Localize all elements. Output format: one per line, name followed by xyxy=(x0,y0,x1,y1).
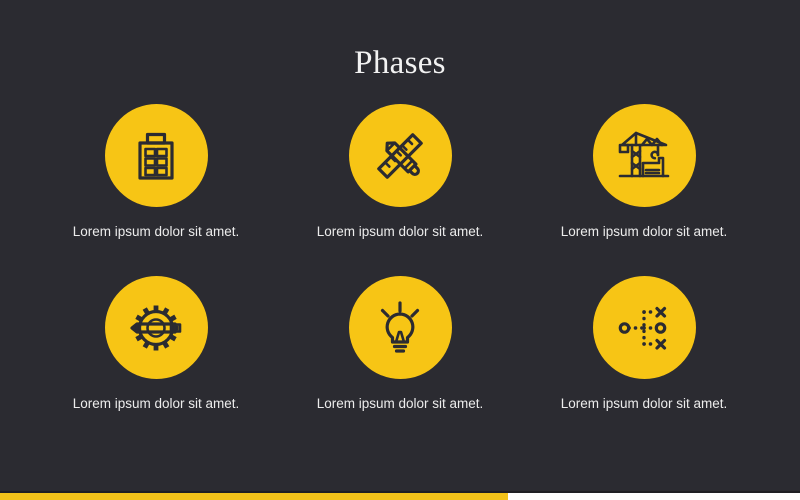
phase-caption-3: Lorem ipsum dolor sit amet. xyxy=(553,222,735,242)
phase-icon-circle-4[interactable] xyxy=(105,276,208,379)
phase-caption-4: Lorem ipsum dolor sit amet. xyxy=(65,394,247,414)
phase-grid: Lorem ipsum dolor sit amet. xyxy=(34,104,766,448)
strategy-playbook-icon xyxy=(614,298,674,358)
phase-caption-1: Lorem ipsum dolor sit amet. xyxy=(65,222,247,242)
phase-icon-circle-5[interactable] xyxy=(349,276,452,379)
phase-item-2[interactable]: Lorem ipsum dolor sit amet. xyxy=(278,104,522,276)
footer-accent-bar xyxy=(0,493,508,500)
page-title: Phases xyxy=(0,44,800,82)
construction-crane-icon xyxy=(614,126,674,186)
ruler-pencil-icon xyxy=(370,126,430,186)
phase-caption-5: Lorem ipsum dolor sit amet. xyxy=(309,394,491,414)
phase-item-6[interactable]: Lorem ipsum dolor sit amet. xyxy=(522,276,766,448)
phase-item-3[interactable]: Lorem ipsum dolor sit amet. xyxy=(522,104,766,276)
footer-right-strip xyxy=(508,493,800,500)
lightbulb-idea-icon xyxy=(370,298,430,358)
phase-item-4[interactable]: Lorem ipsum dolor sit amet. xyxy=(34,276,278,448)
phase-icon-circle-6[interactable] xyxy=(593,276,696,379)
phase-item-1[interactable]: Lorem ipsum dolor sit amet. xyxy=(34,104,278,276)
phase-caption-2: Lorem ipsum dolor sit amet. xyxy=(309,222,491,242)
slide-canvas: Phases Lorem ipsum dolor sit amet. xyxy=(0,0,800,500)
phase-item-5[interactable]: Lorem ipsum dolor sit amet. xyxy=(278,276,522,448)
gear-pencil-icon xyxy=(126,298,186,358)
phase-caption-6: Lorem ipsum dolor sit amet. xyxy=(553,394,735,414)
phase-icon-circle-3[interactable] xyxy=(593,104,696,207)
phase-icon-circle-1[interactable] xyxy=(105,104,208,207)
office-building-icon xyxy=(126,126,186,186)
phase-icon-circle-2[interactable] xyxy=(349,104,452,207)
